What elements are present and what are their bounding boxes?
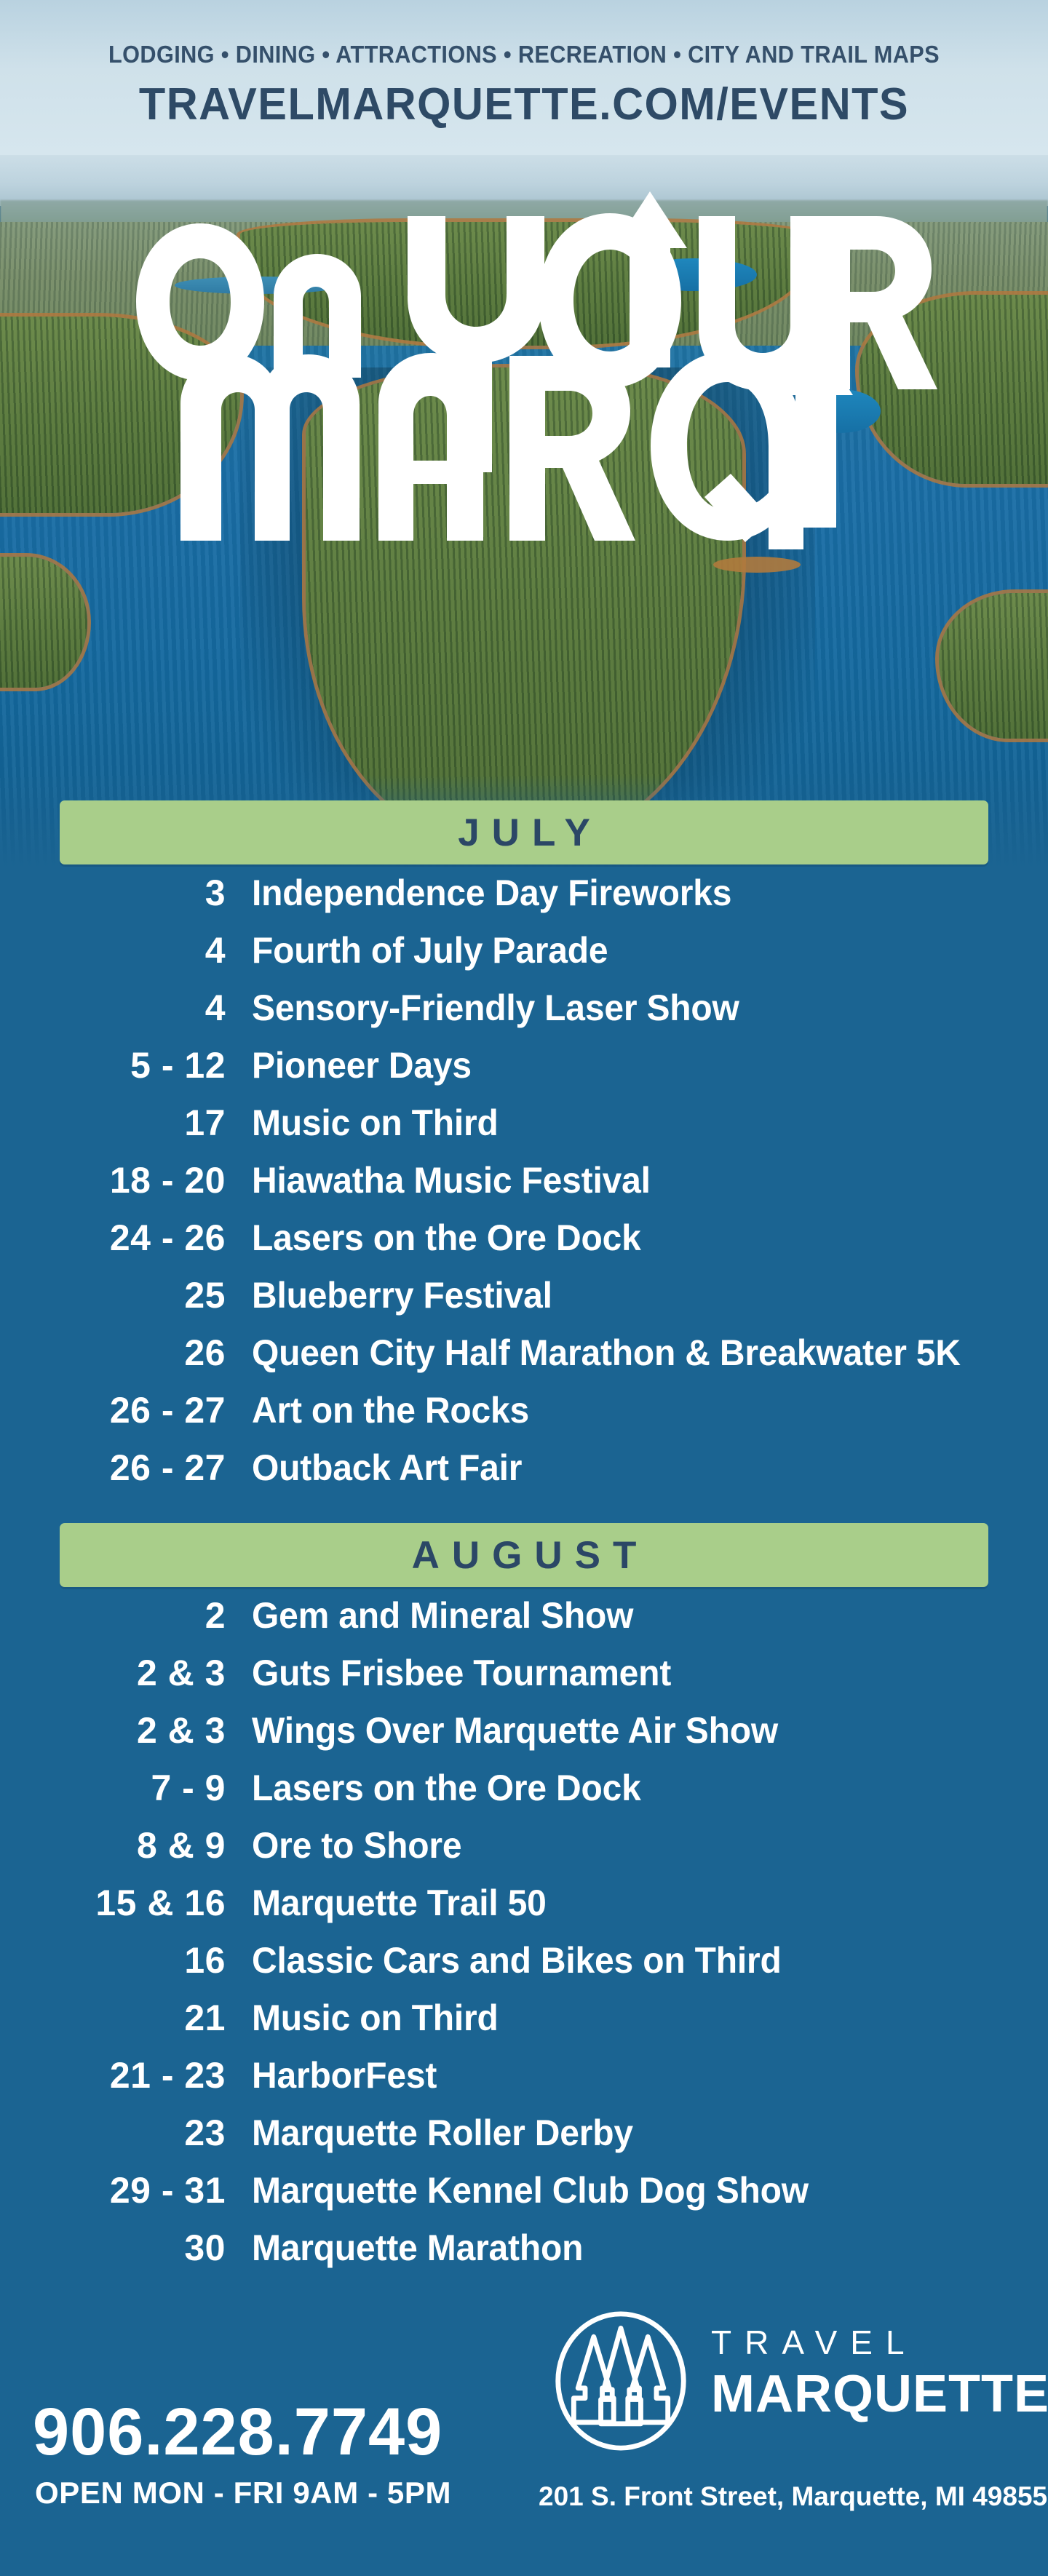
event-name: Art on the Rocks bbox=[252, 1389, 529, 1431]
event-name: Marquette Roller Derby bbox=[252, 2112, 633, 2154]
event-date: 26 bbox=[0, 1332, 226, 1374]
month-band-august: AUGUST bbox=[60, 1523, 988, 1587]
event-name: Fourth of July Parade bbox=[252, 929, 608, 971]
photo-pond-b bbox=[801, 389, 881, 433]
event-row[interactable]: 21 - 23 HarborFest bbox=[0, 2054, 1048, 2112]
office-address: 201 S. Front Street, Marquette, MI 49855 bbox=[539, 2481, 1047, 2512]
event-date: 26 - 27 bbox=[0, 1447, 226, 1489]
event-name: Gem and Mineral Show bbox=[252, 1594, 633, 1637]
event-name: Pioneer Days bbox=[252, 1044, 472, 1086]
event-row[interactable]: 15 & 16 Marquette Trail 50 bbox=[0, 1882, 1048, 1939]
event-date: 2 bbox=[0, 1594, 226, 1637]
event-date: 3 bbox=[0, 872, 226, 914]
event-date: 15 & 16 bbox=[0, 1882, 226, 1924]
event-name: Music on Third bbox=[252, 1997, 499, 2039]
event-name: Independence Day Fireworks bbox=[252, 872, 731, 914]
event-name: Marquette Kennel Club Dog Show bbox=[252, 2169, 809, 2211]
brand-travel-text: TRAVEL bbox=[711, 2326, 1048, 2359]
office-hours: OPEN MON - FRI 9AM - 5PM bbox=[35, 2476, 451, 2511]
photo-sky bbox=[0, 149, 1048, 206]
event-row[interactable]: 18 - 20 Hiawatha Music Festival bbox=[0, 1159, 1048, 1217]
event-row[interactable]: 26 Queen City Half Marathon & Breakwater… bbox=[0, 1332, 1048, 1389]
event-row[interactable]: 26 - 27 Art on the Rocks bbox=[0, 1389, 1048, 1447]
event-row[interactable]: 24 - 26 Lasers on the Ore Dock bbox=[0, 1217, 1048, 1274]
hero-aerial-lake-photo bbox=[0, 149, 1048, 870]
three-pine-trees-in-oval-icon bbox=[549, 2310, 692, 2452]
event-date: 4 bbox=[0, 987, 226, 1029]
event-name: Sensory-Friendly Laser Show bbox=[252, 987, 739, 1029]
event-row[interactable]: 3 Independence Day Fireworks bbox=[0, 872, 1048, 929]
event-date: 24 - 26 bbox=[0, 1217, 226, 1259]
event-name: Classic Cars and Bikes on Third bbox=[252, 1939, 782, 1981]
footer: 906.228.7749 OPEN MON - FRI 9AM - 5PM TR… bbox=[0, 2263, 1048, 2576]
event-row[interactable]: 26 - 27 Outback Art Fair bbox=[0, 1447, 1048, 1504]
event-name: Hiawatha Music Festival bbox=[252, 1159, 651, 1201]
event-row[interactable]: 2 & 3 Guts Frisbee Tournament bbox=[0, 1652, 1048, 1709]
brand-marquette-text: MARQUETTE bbox=[711, 2368, 1048, 2420]
event-name: Ore to Shore bbox=[252, 1824, 461, 1867]
event-date: 7 - 9 bbox=[0, 1767, 226, 1809]
header-bar: LODGING • DINING • ATTRACTIONS • RECREAT… bbox=[0, 0, 1048, 155]
event-date: 23 bbox=[0, 2112, 226, 2154]
event-date: 5 - 12 bbox=[0, 1044, 226, 1086]
event-row[interactable]: 2 Gem and Mineral Show bbox=[0, 1594, 1048, 1652]
event-date: 29 - 31 bbox=[0, 2169, 226, 2211]
photo-shoreline-b bbox=[713, 557, 801, 573]
event-date: 8 & 9 bbox=[0, 1824, 226, 1867]
event-date: 2 & 3 bbox=[0, 1652, 226, 1694]
event-name: Guts Frisbee Tournament bbox=[252, 1652, 671, 1694]
event-date: 4 bbox=[0, 929, 226, 971]
event-date: 18 - 20 bbox=[0, 1159, 226, 1201]
event-name: Marquette Trail 50 bbox=[252, 1882, 547, 1924]
month-band-july: JULY bbox=[60, 800, 988, 864]
photo-pond-a bbox=[633, 258, 757, 291]
event-name: Blueberry Festival bbox=[252, 1274, 552, 1316]
event-name: Queen City Half Marathon & Breakwater 5K bbox=[252, 1332, 961, 1374]
event-name: Lasers on the Ore Dock bbox=[252, 1217, 641, 1259]
event-name: Music on Third bbox=[252, 1102, 499, 1144]
event-date: 17 bbox=[0, 1102, 226, 1144]
event-row[interactable]: 23 Marquette Roller Derby bbox=[0, 2112, 1048, 2169]
month-title-august: AUGUST bbox=[400, 1533, 649, 1578]
event-date: 21 bbox=[0, 1997, 226, 2039]
event-name: Lasers on the Ore Dock bbox=[252, 1767, 641, 1809]
event-date: 21 - 23 bbox=[0, 2054, 226, 2096]
event-row[interactable]: 5 - 12 Pioneer Days bbox=[0, 1044, 1048, 1102]
event-row[interactable]: 16 Classic Cars and Bikes on Third bbox=[0, 1939, 1048, 1997]
event-name: HarborFest bbox=[252, 2054, 437, 2096]
event-row[interactable]: 7 - 9 Lasers on the Ore Dock bbox=[0, 1767, 1048, 1824]
event-date: 26 - 27 bbox=[0, 1389, 226, 1431]
event-row[interactable]: 21 Music on Third bbox=[0, 1997, 1048, 2054]
header-website-url[interactable]: TRAVELMARQUETTE.COM/EVENTS bbox=[21, 79, 1027, 130]
event-row[interactable]: 29 - 31 Marquette Kennel Club Dog Show bbox=[0, 2169, 1048, 2227]
event-row[interactable]: 17 Music on Third bbox=[0, 1102, 1048, 1159]
event-date: 2 & 3 bbox=[0, 1709, 226, 1752]
event-row[interactable]: 2 & 3 Wings Over Marquette Air Show bbox=[0, 1709, 1048, 1767]
event-date: 16 bbox=[0, 1939, 226, 1981]
month-title-july: JULY bbox=[445, 811, 603, 855]
event-name: Outback Art Fair bbox=[252, 1447, 522, 1489]
july-events: 3 Independence Day Fireworks 4 Fourth of… bbox=[0, 872, 1048, 1504]
event-name: Wings Over Marquette Air Show bbox=[252, 1709, 778, 1752]
brand-wordmark: TRAVEL MARQUETTE bbox=[711, 2326, 1048, 2420]
event-row[interactable]: 4 Sensory-Friendly Laser Show bbox=[0, 987, 1048, 1044]
phone-number[interactable]: 906.228.7749 bbox=[33, 2394, 442, 2470]
events-list: JULY 3 Independence Day Fireworks 4 Four… bbox=[0, 800, 1048, 2263]
august-events: 2 Gem and Mineral Show 2 & 3 Guts Frisbe… bbox=[0, 1594, 1048, 2284]
event-date: 25 bbox=[0, 1274, 226, 1316]
event-row[interactable]: 4 Fourth of July Parade bbox=[0, 929, 1048, 987]
event-row[interactable]: 25 Blueberry Festival bbox=[0, 1274, 1048, 1332]
travel-marquette-logo: TRAVEL MARQUETTE bbox=[549, 2310, 1030, 2492]
photo-pond-c bbox=[175, 277, 342, 294]
event-row[interactable]: 8 & 9 Ore to Shore bbox=[0, 1824, 1048, 1882]
header-tagline: LODGING • DINING • ATTRACTIONS • RECREAT… bbox=[36, 41, 1011, 68]
